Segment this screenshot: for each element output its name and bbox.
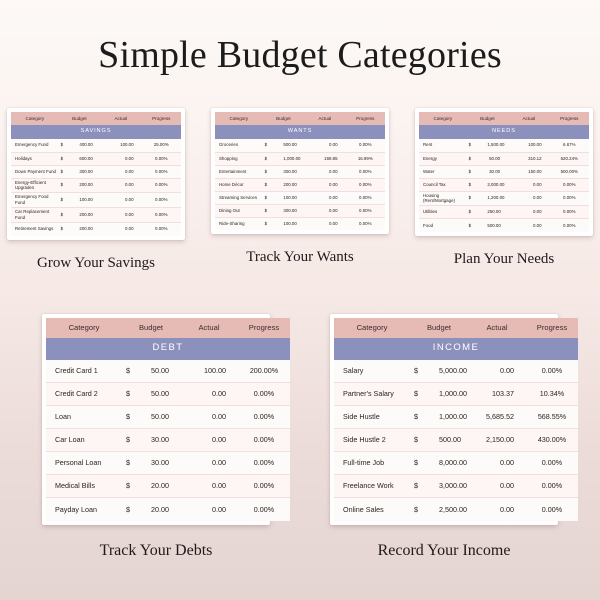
cell-category: Partner's Salary	[334, 383, 410, 406]
cell-category: Car Loan	[46, 429, 122, 452]
column-header-actual[interactable]: Actual	[180, 318, 238, 338]
cell-currency: $	[59, 193, 80, 208]
cell-category: Energy	[419, 152, 467, 165]
cell-category: Salary	[334, 360, 410, 383]
income-table-card[interactable]: INCOME Category Budget Actual Progress S…	[330, 314, 558, 525]
cell-budget: 30.00	[151, 429, 180, 452]
cell-currency: $	[59, 178, 80, 193]
cell-progress: 0.00%	[526, 475, 578, 498]
cell-progress: 0.00%	[346, 165, 385, 178]
savings-rows: Emergency Fund$400.00100.0025.00% Holida…	[11, 139, 181, 236]
cell-progress: 0.00%	[238, 498, 290, 521]
cell-currency: $	[59, 152, 80, 165]
table-row[interactable]: Food$500.000.000.00%	[419, 219, 589, 232]
cell-budget: 300.00	[79, 165, 100, 178]
caption-savings: Grow Your Savings	[37, 255, 155, 272]
table-row[interactable]: Holidays$600.000.000.00%	[11, 152, 181, 165]
cell-category: Food	[419, 219, 467, 232]
cell-currency: $	[122, 406, 151, 429]
cell-currency: $	[410, 360, 439, 383]
cell-progress: 0.00%	[142, 152, 181, 165]
cell-actual: 0.00	[468, 452, 526, 475]
column-header-category[interactable]: Category	[334, 318, 410, 338]
column-header-progress[interactable]: Progress	[238, 318, 290, 338]
cell-budget: 50.00	[487, 152, 508, 165]
budget-card-debt: DEBT Category Budget Actual Progress Cre…	[42, 314, 270, 560]
cell-progress: 16.99%	[346, 152, 385, 165]
cell-actual: 0.00	[100, 152, 141, 165]
cell-category: Full-time Job	[334, 452, 410, 475]
table-row[interactable]: Full-time Job$8,000.000.000.00%	[334, 452, 578, 475]
cell-category: Water	[419, 165, 467, 178]
cell-actual: 310.12	[508, 152, 549, 165]
table-row[interactable]: Loan$50.000.000.00%	[46, 406, 290, 429]
table-row[interactable]: Emergency Fund$400.00100.0025.00%	[11, 139, 181, 152]
cell-budget: 20.00	[151, 498, 180, 521]
cell-actual: 0.00	[100, 178, 141, 193]
cell-budget: 200.00	[79, 208, 100, 223]
cell-category: Entertainment	[215, 165, 263, 178]
cell-budget: 300.00	[283, 165, 304, 178]
table-row[interactable]: Credit Card 2$50.000.000.00%	[46, 383, 290, 406]
budget-card-needs: NEEDS Category Budget Actual Progress Re…	[415, 108, 593, 268]
cell-budget: 200.00	[79, 223, 100, 236]
cell-actual: 0.00	[180, 498, 238, 521]
column-header-actual[interactable]: Actual	[304, 112, 345, 125]
savings-table: SAVINGS Category Budget Actual Progress …	[11, 112, 181, 236]
savings-table-body: SAVINGS	[11, 125, 181, 139]
cell-budget: 20.00	[151, 475, 180, 498]
savings-title-row: SAVINGS	[11, 125, 181, 139]
wants-title: WANTS	[215, 125, 385, 139]
cell-category: Emergency Fund	[11, 139, 59, 152]
table-row[interactable]: Emergency Food Fund$100.000.000.00%	[11, 193, 181, 208]
table-row[interactable]: Energy$50.00310.12620.24%	[419, 152, 589, 165]
cell-progress: 200.00%	[238, 360, 290, 383]
cell-progress: 0.00%	[238, 383, 290, 406]
cell-currency: $	[410, 498, 439, 521]
cell-currency: $	[410, 429, 439, 452]
cell-budget: 1,500.00	[487, 139, 508, 152]
cell-actual: 0.00	[100, 208, 141, 223]
cell-budget: 2,500.00	[439, 498, 468, 521]
cell-currency: $	[410, 475, 439, 498]
cell-category: Medical Bills	[46, 475, 122, 498]
cell-actual: 0.00	[304, 217, 345, 230]
cell-category: Energy-Efficient Upgrades	[11, 178, 59, 193]
cell-category: Loan	[46, 406, 122, 429]
cell-progress: 0.00%	[346, 178, 385, 191]
cell-category: Down Payment Fund	[11, 165, 59, 178]
wants-rows: Groceries$500.000.000.00% Shopping$1,000…	[215, 139, 385, 230]
cell-actual: 100.00	[100, 139, 141, 152]
cell-budget: 1,000.00	[283, 152, 304, 165]
budget-card-wants: WANTS Category Budget Actual Progress Gr…	[211, 108, 389, 266]
table-row[interactable]: Groceries$500.000.000.00%	[215, 139, 385, 152]
table-row[interactable]: Down Payment Fund$300.000.000.00%	[11, 165, 181, 178]
cell-progress: 0.00%	[550, 178, 589, 191]
cell-category: Side Hustle	[334, 406, 410, 429]
cell-actual: 0.00	[180, 406, 238, 429]
cell-budget: 500.00	[283, 139, 304, 152]
table-row[interactable]: Housing (Rent/Mortgage)$1,200.000.000.00…	[419, 191, 589, 206]
cell-actual: 0.00	[100, 193, 141, 208]
debt-title: DEBT	[46, 338, 290, 360]
caption-needs: Plan Your Needs	[454, 251, 554, 268]
cell-budget: 500.00	[439, 429, 468, 452]
cell-actual: 150.00	[508, 165, 549, 178]
column-header-budget[interactable]: Budget	[59, 112, 100, 125]
cell-currency: $	[122, 452, 151, 475]
column-header-category[interactable]: Category	[419, 112, 467, 125]
debt-rows: Credit Card 1$50.00100.00200.00% Credit …	[46, 360, 290, 521]
cell-actual: 0.00	[468, 360, 526, 383]
cell-actual: 0.00	[304, 191, 345, 204]
cell-progress: 620.24%	[550, 152, 589, 165]
cell-category: Housing (Rent/Mortgage)	[419, 191, 467, 206]
column-header-budget[interactable]: Budget	[122, 318, 180, 338]
cell-actual: 0.00	[180, 475, 238, 498]
cell-actual: 0.00	[180, 452, 238, 475]
cell-actual: 0.00	[304, 178, 345, 191]
table-row[interactable]: Energy-Efficient Upgrades$200.000.000.00…	[11, 178, 181, 193]
cell-actual: 0.00	[304, 139, 345, 152]
cell-actual: 0.00	[180, 383, 238, 406]
cell-budget: 50.00	[151, 383, 180, 406]
cell-progress: 6.67%	[550, 139, 589, 152]
cell-budget: 100.00	[79, 193, 100, 208]
cell-currency: $	[122, 360, 151, 383]
cell-budget: 400.00	[79, 139, 100, 152]
cell-currency: $	[263, 191, 284, 204]
cell-currency: $	[59, 223, 80, 236]
savings-header-row: Category Budget Actual Progress	[11, 112, 181, 125]
cell-category: Dining Out	[215, 204, 263, 217]
budget-card-income: INCOME Category Budget Actual Progress S…	[330, 314, 558, 560]
income-table: INCOME Category Budget Actual Progress S…	[334, 318, 578, 521]
column-header-category[interactable]: Category	[215, 112, 263, 125]
cell-progress: 0.00%	[346, 217, 385, 230]
table-row[interactable]: Ride-Sharing$100.000.000.00%	[215, 217, 385, 230]
table-row[interactable]: Personal Loan$30.000.000.00%	[46, 452, 290, 475]
cell-category: Home Décor	[215, 178, 263, 191]
debt-table-card[interactable]: DEBT Category Budget Actual Progress Cre…	[42, 314, 270, 525]
column-header-progress[interactable]: Progress	[550, 112, 589, 125]
cell-category: Credit Card 2	[46, 383, 122, 406]
cell-progress: 0.00%	[142, 193, 181, 208]
cell-category: Emergency Food Fund	[11, 193, 59, 208]
cell-category: Holidays	[11, 152, 59, 165]
cell-budget: 100.00	[283, 217, 304, 230]
table-row[interactable]: Dining Out$300.000.000.00%	[215, 204, 385, 217]
cell-budget: 3,000.00	[439, 475, 468, 498]
cell-budget: 1,000.00	[439, 406, 468, 429]
table-row[interactable]: Water$30.00150.00500.00%	[419, 165, 589, 178]
cell-actual: 2,150.00	[468, 429, 526, 452]
cell-actual: 100.00	[508, 139, 549, 152]
column-header-actual[interactable]: Actual	[508, 112, 549, 125]
wants-table: WANTS Category Budget Actual Progress Gr…	[215, 112, 385, 230]
cell-currency: $	[263, 139, 284, 152]
cell-progress: 0.00%	[550, 206, 589, 219]
caption-income: Record Your Income	[378, 542, 511, 560]
table-row[interactable]: Credit Card 1$50.00100.00200.00%	[46, 360, 290, 383]
cell-currency: $	[410, 452, 439, 475]
cell-budget: 1,200.00	[487, 191, 508, 206]
cell-budget: 250.00	[487, 206, 508, 219]
debt-header-row: Category Budget Actual Progress	[46, 318, 290, 338]
cell-currency: $	[467, 206, 488, 219]
column-header-progress[interactable]: Progress	[526, 318, 578, 338]
cell-currency: $	[122, 498, 151, 521]
cell-actual: 5,685.52	[468, 406, 526, 429]
cell-actual: 0.00	[508, 219, 549, 232]
needs-rows: Rent$1,500.00100.006.67% Energy$50.00310…	[419, 139, 589, 232]
cell-progress: 0.00%	[346, 191, 385, 204]
cell-progress: 0.00%	[526, 498, 578, 521]
table-row[interactable]: Car Loan$30.000.000.00%	[46, 429, 290, 452]
table-row[interactable]: Home Décor$200.000.000.00%	[215, 178, 385, 191]
table-row[interactable]: Side Hustle 2$500.002,150.00430.00%	[334, 429, 578, 452]
cell-currency: $	[122, 429, 151, 452]
wants-title-row: WANTS	[215, 125, 385, 139]
cell-progress: 0.00%	[238, 475, 290, 498]
column-header-progress[interactable]: Progress	[346, 112, 385, 125]
cell-category: Ride-Sharing	[215, 217, 263, 230]
needs-title: NEEDS	[419, 125, 589, 139]
table-row[interactable]: Online Sales$2,500.000.000.00%	[334, 498, 578, 521]
cell-budget: 30.00	[151, 452, 180, 475]
column-header-budget[interactable]: Budget	[467, 112, 508, 125]
cell-budget: 30.00	[487, 165, 508, 178]
cell-budget: 5,000.00	[439, 360, 468, 383]
page-title: Simple Budget Categories	[0, 0, 600, 74]
cell-progress: 0.00%	[238, 452, 290, 475]
column-header-category[interactable]: Category	[46, 318, 122, 338]
cell-progress: 0.00%	[526, 360, 578, 383]
cell-budget: 500.00	[487, 219, 508, 232]
cell-currency: $	[263, 217, 284, 230]
cell-currency: $	[410, 406, 439, 429]
savings-title: SAVINGS	[11, 125, 181, 139]
cell-currency: $	[410, 383, 439, 406]
cell-progress: 10.34%	[526, 383, 578, 406]
table-row[interactable]: Medical Bills$20.000.000.00%	[46, 475, 290, 498]
income-title-row: INCOME	[334, 338, 578, 360]
cell-actual: 0.00	[100, 165, 141, 178]
cell-actual: 0.00	[304, 204, 345, 217]
cell-budget: 200.00	[79, 178, 100, 193]
column-header-actual[interactable]: Actual	[100, 112, 141, 125]
table-row[interactable]: Rent$1,500.00100.006.67%	[419, 139, 589, 152]
table-row[interactable]: Freelance Work$3,000.000.000.00%	[334, 475, 578, 498]
cell-progress: 0.00%	[142, 223, 181, 236]
cell-actual: 0.00	[468, 475, 526, 498]
cell-progress: 568.55%	[526, 406, 578, 429]
cell-category: Personal Loan	[46, 452, 122, 475]
cell-currency: $	[122, 475, 151, 498]
table-row[interactable]: Shopping$1,000.00169.8516.99%	[215, 152, 385, 165]
needs-header-row: Category Budget Actual Progress	[419, 112, 589, 125]
cell-progress: 500.00%	[550, 165, 589, 178]
cell-currency: $	[263, 178, 284, 191]
cell-budget: 8,000.00	[439, 452, 468, 475]
cell-progress: 0.00%	[142, 178, 181, 193]
table-row[interactable]: Entertainment$300.000.000.00%	[215, 165, 385, 178]
table-row[interactable]: Utilities$250.000.000.00%	[419, 206, 589, 219]
cell-currency: $	[467, 139, 488, 152]
cell-currency: $	[467, 191, 488, 206]
cell-category: Credit Card 1	[46, 360, 122, 383]
income-header-row: Category Budget Actual Progress	[334, 318, 578, 338]
cell-budget: 200.00	[283, 178, 304, 191]
cell-progress: 0.00%	[238, 406, 290, 429]
cell-currency: $	[59, 165, 80, 178]
needs-table: NEEDS Category Budget Actual Progress Re…	[419, 112, 589, 232]
cell-currency: $	[263, 152, 284, 165]
cell-actual: 0.00	[468, 498, 526, 521]
column-header-budget[interactable]: Budget	[263, 112, 304, 125]
needs-table-card[interactable]: NEEDS Category Budget Actual Progress Re…	[415, 108, 593, 236]
savings-table-card[interactable]: SAVINGS Category Budget Actual Progress …	[7, 108, 185, 240]
cell-progress: 0.00%	[526, 452, 578, 475]
column-header-actual[interactable]: Actual	[468, 318, 526, 338]
cell-actual: 0.00	[100, 223, 141, 236]
cell-progress: 0.00%	[346, 139, 385, 152]
cell-budget: 50.00	[151, 406, 180, 429]
cell-progress: 25.00%	[142, 139, 181, 152]
caption-debt: Track Your Debts	[100, 542, 213, 560]
debt-title-row: DEBT	[46, 338, 290, 360]
cell-actual: 0.00	[180, 429, 238, 452]
cell-currency: $	[263, 165, 284, 178]
cell-category: Car Replacement Fund	[11, 208, 59, 223]
cell-category: Freelance Work	[334, 475, 410, 498]
cell-category: Streaming Services	[215, 191, 263, 204]
cell-actual: 0.00	[508, 206, 549, 219]
cell-budget: 50.00	[151, 360, 180, 383]
cell-budget: 100.00	[283, 191, 304, 204]
cell-budget: 600.00	[79, 152, 100, 165]
needs-title-row: NEEDS	[419, 125, 589, 139]
cell-category: Online Sales	[334, 498, 410, 521]
cell-currency: $	[122, 383, 151, 406]
table-row[interactable]: Retirement Savings$200.000.000.00%	[11, 223, 181, 236]
cell-actual: 103.37	[468, 383, 526, 406]
table-row[interactable]: Partner's Salary$1,000.00103.3710.34%	[334, 383, 578, 406]
table-row-top: SAVINGS Category Budget Actual Progress …	[0, 108, 600, 272]
table-row[interactable]: Side Hustle$1,000.005,685.52568.55%	[334, 406, 578, 429]
table-row[interactable]: Car Replacement Fund$200.000.000.00%	[11, 208, 181, 223]
cell-category: Retirement Savings	[11, 223, 59, 236]
cell-progress: 0.00%	[346, 204, 385, 217]
caption-wants: Track Your Wants	[246, 249, 354, 266]
income-rows: Salary$5,000.000.000.00% Partner's Salar…	[334, 360, 578, 521]
table-row[interactable]: Council Tax$2,000.000.000.00%	[419, 178, 589, 191]
cell-actual: 100.00	[180, 360, 238, 383]
cell-budget: 1,000.00	[439, 383, 468, 406]
cell-actual: 0.00	[304, 165, 345, 178]
wants-table-card[interactable]: WANTS Category Budget Actual Progress Gr…	[211, 108, 389, 234]
cell-budget: 300.00	[283, 204, 304, 217]
column-header-progress[interactable]: Progress	[142, 112, 181, 125]
table-row[interactable]: Streaming Services$100.000.000.00%	[215, 191, 385, 204]
cell-progress: 0.00%	[142, 208, 181, 223]
cell-category: Rent	[419, 139, 467, 152]
cell-currency: $	[467, 219, 488, 232]
cell-actual: 0.00	[508, 178, 549, 191]
cell-currency: $	[467, 165, 488, 178]
debt-table: DEBT Category Budget Actual Progress Cre…	[46, 318, 290, 521]
cell-progress: 0.00%	[238, 429, 290, 452]
cell-currency: $	[263, 204, 284, 217]
cell-category: Shopping	[215, 152, 263, 165]
cell-actual: 169.85	[304, 152, 345, 165]
cell-actual: 0.00	[508, 191, 549, 206]
cell-progress: 430.00%	[526, 429, 578, 452]
cell-category: Groceries	[215, 139, 263, 152]
cell-category: Council Tax	[419, 178, 467, 191]
cell-budget: 2,000.00	[487, 178, 508, 191]
income-title: INCOME	[334, 338, 578, 360]
table-row[interactable]: Payday Loan$20.000.000.00%	[46, 498, 290, 521]
cell-currency: $	[467, 152, 488, 165]
column-header-budget[interactable]: Budget	[410, 318, 468, 338]
budget-card-savings: SAVINGS Category Budget Actual Progress …	[7, 108, 185, 272]
cell-currency: $	[467, 178, 488, 191]
cell-progress: 0.00%	[550, 191, 589, 206]
cell-category: Payday Loan	[46, 498, 122, 521]
cell-currency: $	[59, 139, 80, 152]
cell-category: Side Hustle 2	[334, 429, 410, 452]
wants-header-row: Category Budget Actual Progress	[215, 112, 385, 125]
table-row[interactable]: Salary$5,000.000.000.00%	[334, 360, 578, 383]
cell-progress: 0.00%	[550, 219, 589, 232]
table-row-bottom: DEBT Category Budget Actual Progress Cre…	[0, 314, 600, 560]
cell-currency: $	[59, 208, 80, 223]
cell-category: Utilities	[419, 206, 467, 219]
column-header-category[interactable]: Category	[11, 112, 59, 125]
cell-progress: 0.00%	[142, 165, 181, 178]
